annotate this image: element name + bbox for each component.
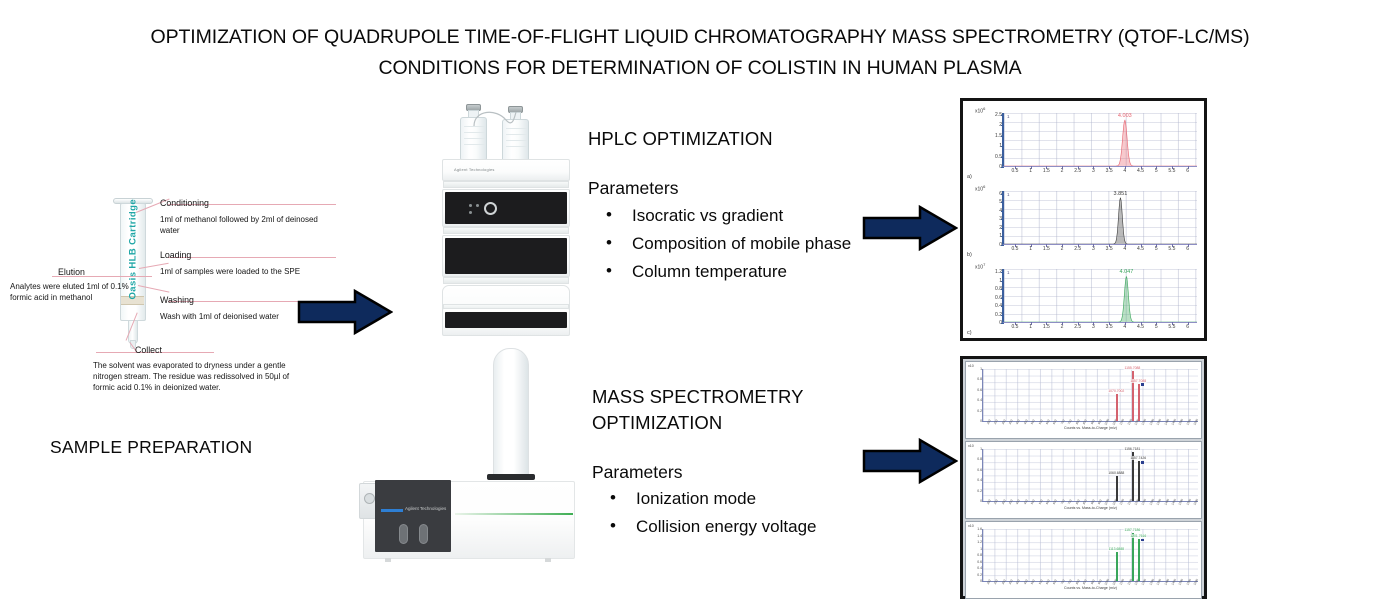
chromatogram-y-tick — [1001, 167, 1004, 168]
spectrum-x-tick-label: 700 — [1060, 579, 1066, 585]
spectrum-x-tick-label: 1600 — [1193, 498, 1200, 506]
chromatogram-panel-c: x107c)100.20.40.60.811.20.511.522.533.54… — [966, 261, 1201, 337]
spectrum-peak-label: 1156.7181 — [1124, 447, 1141, 451]
spectrum-x-tick-label: 300 — [1000, 579, 1006, 585]
step-loading: Loading 1ml of samples were loaded to th… — [160, 250, 335, 277]
chromatogram-x-tick — [1172, 244, 1173, 247]
hplc-divider-1 — [443, 181, 569, 188]
chromatogram-x-tick — [1172, 322, 1173, 325]
chromatogram-x-tick — [1188, 244, 1189, 247]
spectrum-peak-bar — [1138, 539, 1139, 581]
step-conditioning: Conditioning 1ml of methanol followed by… — [160, 198, 335, 236]
spectrum-x-tick-label: 750 — [1067, 419, 1073, 425]
spectrum-x-tick-label: 200 — [986, 499, 992, 505]
chromatogram-x-tick — [1125, 322, 1126, 325]
spectrum-plot-area: 00.20.40.60.811.21.41.620025030035040045… — [982, 529, 1198, 582]
spectrum-x-tick-label: 1400 — [1163, 418, 1170, 426]
spectrum-marker — [1141, 461, 1144, 464]
spectrum-x-tick-label: 1550 — [1185, 498, 1192, 506]
sample-preparation-caption: SAMPLE PREPARATION — [50, 437, 252, 458]
spectrum-peak-label: 1113.6888 — [1108, 547, 1125, 551]
hplc-divider-3 — [443, 277, 569, 284]
chromatogram-x-tick — [1156, 322, 1157, 325]
chromatogram-panel-b: x106b)101234560.511.522.533.544.555.563.… — [966, 183, 1201, 259]
ms-column-base — [487, 474, 535, 480]
spectrum-y-exponent: x10 — [968, 524, 974, 528]
step-loading-title: Loading — [160, 250, 335, 260]
spectrum-x-tick-label: 800 — [1074, 499, 1080, 505]
ms-section-title-line-1: MASS SPECTROMETRY — [592, 384, 892, 410]
spectrum-y-tick-label: 1.6 — [977, 527, 982, 531]
spectrum-y-tick-label: 0.2 — [977, 409, 982, 413]
spectrum-x-tick-label: 500 — [1030, 579, 1036, 585]
spectrum-x-tick-label: 1000 — [1104, 498, 1111, 506]
spectrum-x-tick-label: 1500 — [1178, 578, 1185, 586]
spectrum-x-tick-label: 1550 — [1185, 578, 1192, 586]
spectrum-y-tick-label: 0.6 — [977, 388, 982, 392]
spectrum-x-tick-label: 250 — [993, 499, 999, 505]
chromatogram-x-tick — [1015, 244, 1016, 247]
spectrum-y-tick-label: 0.6 — [977, 468, 982, 472]
chromatogram-x-tick — [1062, 244, 1063, 247]
hplc-parameters-list: Isocratic vs gradient Composition of mob… — [588, 202, 888, 286]
spectrum-peak-label: 1070.7002 — [1108, 389, 1125, 393]
spectrum-x-tick-label: 750 — [1067, 579, 1073, 585]
arrow-ms-to-spectra — [862, 437, 958, 485]
spectrum-x-tick-label: 650 — [1052, 579, 1058, 585]
spectrum-x-tick-label: 1000 — [1104, 578, 1111, 586]
spectrum-x-tick-label: 1250 — [1141, 578, 1148, 586]
chromatogram-x-tick — [1031, 322, 1032, 325]
ms-foot-right — [545, 558, 551, 562]
hplc-section-title: HPLC OPTIMIZATION — [588, 126, 888, 152]
hplc-pump-dial — [484, 202, 497, 215]
spectrum-y-tick-label: 0.6 — [977, 560, 982, 564]
spectrum-x-tick-label: 700 — [1060, 419, 1066, 425]
spectrum-y-tick-label: 0 — [980, 579, 982, 583]
spectrum-x-tick-label: 1300 — [1148, 578, 1155, 586]
chromatogram-x-tick — [1078, 322, 1079, 325]
spectrum-x-tick-label: 200 — [986, 419, 992, 425]
spectrum-y-tick-label: 1.2 — [977, 540, 982, 544]
chromatogram-x-tick — [1093, 244, 1094, 247]
spectrum-peak-bar — [1116, 476, 1117, 501]
spectrum-x-tick-label: 1350 — [1156, 498, 1163, 506]
ms-inlet-port — [364, 493, 375, 504]
ms-parameters-label: Parameters — [592, 462, 892, 483]
spectrum-x-tick-label: 600 — [1045, 499, 1051, 505]
spectrum-y-tick-label: 1 — [980, 367, 982, 371]
ms-source-handle-left[interactable] — [399, 524, 408, 544]
spectrum-y-tick-label: 1 — [980, 547, 982, 551]
chromatogram-trace — [1004, 269, 1197, 322]
hplc-bullet-3: Column temperature — [588, 258, 888, 286]
spectrum-x-tick-label: 350 — [1008, 499, 1014, 505]
mass-spectrometer-instrument-image: Agilent Technologies — [345, 343, 579, 575]
chromatogram-x-tick — [1062, 322, 1063, 325]
agilent-brand-logo: Agilent Technologies — [454, 167, 495, 172]
ms-optimization-panel: MASS SPECTROMETRY OPTIMIZATION Parameter… — [592, 384, 892, 541]
spectrum-peak-label: 1060.6888 — [1108, 471, 1125, 475]
spectrum-peak-bar — [1138, 461, 1139, 501]
spectrum-y-tick-label: 0.2 — [977, 573, 982, 577]
ms-section-title-line-2: OPTIMIZATION — [592, 410, 892, 436]
spectrum-y-tick-label: 0.4 — [977, 478, 982, 482]
step-loading-text: 1ml of samples were loaded to the SPE — [160, 266, 335, 277]
chromatogram-x-tick — [1109, 322, 1110, 325]
spectrum-x-tick-label: 950 — [1097, 499, 1103, 505]
spectrum-x-tick-label: 400 — [1015, 579, 1021, 585]
chromatogram-x-tick — [1046, 322, 1047, 325]
spectrum-x-tick-label: 800 — [1074, 579, 1080, 585]
spectrum-x-tick-label: 400 — [1015, 499, 1021, 505]
spectrum-y-tick-label: 0.8 — [977, 377, 982, 381]
spectrum-x-tick-label: 1350 — [1156, 418, 1163, 426]
hplc-divider-2 — [443, 227, 569, 234]
spectrum-x-tick-label: 1100 — [1119, 578, 1126, 586]
spectrum-peak-label: 1157.7186 — [1124, 528, 1141, 532]
chromatogram-panel-id: c) — [967, 330, 972, 336]
mass-spectrum-panel-3: x1000.20.40.60.811.21.41.620025030035040… — [965, 521, 1202, 599]
chromatogram-peak-label: 4.047 — [1119, 269, 1133, 275]
hplc-bullet-1: Isocratic vs gradient — [588, 202, 888, 230]
chromatogram-y-exponent: x107 — [975, 262, 985, 271]
chromatogram-plot-area: 100.511.522.50.511.522.533.544.555.564.0… — [1002, 113, 1197, 167]
spectrum-x-tick-label: 350 — [1008, 579, 1014, 585]
solvent-tubing — [462, 106, 532, 128]
spectrum-x-tick-label: 850 — [1082, 499, 1088, 505]
spectrum-peak-label: 1155.7088 — [1124, 366, 1141, 370]
spectrum-x-tick-label: 650 — [1052, 419, 1058, 425]
chromatogram-x-tick — [1078, 166, 1079, 169]
spectrum-y-tick-label: 1 — [980, 447, 982, 451]
chromatogram-x-tick — [1109, 244, 1110, 247]
spectrum-x-tick-label: 1350 — [1156, 578, 1163, 586]
spectrum-x-tick-label: 550 — [1037, 579, 1043, 585]
chromatogram-peak-label: 3.851 — [1114, 191, 1128, 197]
spectrum-x-tick-label: 450 — [1023, 499, 1029, 505]
spectrum-x-tick-label: 1300 — [1148, 498, 1155, 506]
chromatogram-x-tick — [1046, 166, 1047, 169]
step-conditioning-text: 1ml of methanol followed by 2ml of deino… — [160, 214, 335, 236]
step-elution: Elution Analytes were eluted 1ml of 0.1%… — [10, 267, 150, 303]
chromatogram-x-tick — [1046, 244, 1047, 247]
hplc-autosampler-panel — [445, 238, 567, 274]
chromatogram-x-tick — [1188, 322, 1189, 325]
chromatogram-x-tick — [1125, 244, 1126, 247]
spectrum-plot-area: 00.20.40.60.8120025030035040045050055060… — [982, 449, 1198, 502]
chromatogram-trace — [1004, 191, 1197, 244]
spectrum-x-tick-label: 850 — [1082, 419, 1088, 425]
spectrum-x-tick-label: 550 — [1037, 419, 1043, 425]
ms-blue-accent — [381, 509, 403, 512]
spectrum-y-tick-label: 0.8 — [977, 553, 982, 557]
chromatogram-x-tick — [1093, 322, 1094, 325]
spectrum-x-tick-label: 550 — [1037, 499, 1043, 505]
step-conditioning-title: Conditioning — [160, 198, 335, 208]
spectrum-x-tick-label: 1500 — [1178, 498, 1185, 506]
spectrum-x-tick-label: 1600 — [1193, 418, 1200, 426]
chromatogram-panel-id: a) — [967, 174, 972, 180]
spectrum-x-tick-label: 1100 — [1119, 418, 1126, 426]
spectrum-x-tick-label: 1400 — [1163, 578, 1170, 586]
spectrum-plot-area: 00.20.40.60.8120025030035040045050055060… — [982, 369, 1198, 422]
chromatogram-x-tick — [1078, 244, 1079, 247]
title-line-2: CONDITIONS FOR DETERMINATION OF COLISTIN… — [0, 53, 1400, 84]
chromatogram-panel-id: b) — [967, 252, 972, 258]
hplc-pump-panel — [445, 192, 567, 224]
spectrum-x-tick-label: 1300 — [1148, 418, 1155, 426]
mass-spectrum-panel-2: x1000.20.40.60.8120025030035040045050055… — [965, 441, 1202, 519]
mass-spectra-figure: x1000.20.40.60.8120025030035040045050055… — [960, 356, 1207, 599]
chromatogram-x-tick — [1141, 166, 1142, 169]
step-elution-text: Analytes were eluted 1ml of 0.1% formic … — [10, 281, 150, 303]
ms-bullet-2: Collision energy voltage — [592, 513, 892, 541]
spectrum-x-tick-label: 600 — [1045, 419, 1051, 425]
spectrum-y-tick-label: 1.4 — [977, 534, 982, 538]
hplc-instrument-image: Agilent Technologies — [432, 104, 580, 336]
spectrum-x-tick-label: 900 — [1089, 499, 1095, 505]
spectrum-peak-bar — [1132, 533, 1133, 581]
arrow-hplc-to-chromatograms — [862, 204, 958, 252]
hplc-detector-panel — [445, 312, 567, 328]
spectrum-y-tick-label: 0.4 — [977, 566, 982, 570]
title-line-1: OPTIMIZATION OF QUADRUPOLE TIME-OF-FLIGH… — [0, 22, 1400, 53]
chromatogram-x-tick — [1062, 166, 1063, 169]
ms-turbo-column — [493, 348, 529, 478]
chromatogram-x-tick — [1015, 166, 1016, 169]
spectrum-x-tick-label: 450 — [1023, 579, 1029, 585]
spectrum-x-tick-label: 1450 — [1170, 418, 1177, 426]
spectrum-x-axis-label: Counts vs. Mass-to-Charge (m/z) — [1064, 426, 1117, 430]
spectrum-peak-bar — [1116, 394, 1117, 421]
spectrum-x-tick-label: 650 — [1052, 499, 1058, 505]
chromatogram-y-exponent: x106 — [975, 184, 985, 193]
chromatogram-x-tick — [1015, 322, 1016, 325]
spectrum-x-tick-label: 1400 — [1163, 498, 1170, 506]
spectrum-x-tick-label: 350 — [1008, 419, 1014, 425]
chromatogram-plot-area: 100.20.40.60.811.20.511.522.533.544.555.… — [1002, 269, 1197, 323]
chromatogram-trace — [1004, 113, 1197, 166]
ms-bullet-1: Ionization mode — [592, 485, 892, 513]
spectrum-y-exponent: x10 — [968, 364, 974, 368]
chromatogram-y-tick — [1001, 245, 1004, 246]
spectrum-x-tick-label: 300 — [1000, 419, 1006, 425]
spectrum-x-tick-label: 900 — [1089, 419, 1095, 425]
spectrum-y-exponent: x10 — [968, 444, 974, 448]
ms-parameters-list: Ionization mode Collision energy voltage — [592, 485, 892, 541]
spectrum-x-tick-label: 450 — [1023, 419, 1029, 425]
chromatogram-plot-area: 101234560.511.522.533.544.555.563.851 — [1002, 191, 1197, 245]
step-elution-title: Elution — [10, 267, 150, 277]
spectrum-x-tick-label: 950 — [1097, 579, 1103, 585]
chromatogram-x-tick — [1141, 244, 1142, 247]
chromatogram-x-tick — [1156, 166, 1157, 169]
spectrum-y-tick-label: 0.2 — [977, 489, 982, 493]
spectrum-x-tick-label: 800 — [1074, 419, 1080, 425]
spectrum-y-tick-label: 0 — [980, 419, 982, 423]
spectrum-x-tick-label: 300 — [1000, 499, 1006, 505]
spectrum-x-tick-label: 250 — [993, 579, 999, 585]
spectrum-x-tick-label: 850 — [1082, 579, 1088, 585]
spectrum-x-tick-label: 1450 — [1170, 498, 1177, 506]
spectrum-y-tick-label: 0 — [980, 499, 982, 503]
spectrum-x-tick-label: 1000 — [1104, 418, 1111, 426]
chromatogram-panel-a: x106a)100.511.522.50.511.522.533.544.555… — [966, 105, 1201, 181]
step-collect-text: The solvent was evaporated to dryness un… — [93, 360, 308, 393]
step-collect-title: Collect — [93, 345, 308, 355]
spectrum-y-tick-label: 0.4 — [977, 398, 982, 402]
spectrum-x-tick-label: 400 — [1015, 419, 1021, 425]
page-title: OPTIMIZATION OF QUADRUPOLE TIME-OF-FLIGH… — [0, 22, 1400, 84]
spectrum-x-tick-label: 1250 — [1141, 418, 1148, 426]
step-collect: Collect The solvent was evaporated to dr… — [93, 345, 308, 393]
spectrum-x-tick-label: 1250 — [1141, 498, 1148, 506]
chromatogram-x-tick — [1156, 244, 1157, 247]
mass-spectrum-panel-1: x1000.20.40.60.8120025030035040045050055… — [965, 361, 1202, 439]
spectrum-x-tick-label: 250 — [993, 419, 999, 425]
ms-foot-left — [385, 558, 391, 562]
spectrum-x-tick-label: 750 — [1067, 499, 1073, 505]
chromatogram-x-tick — [1125, 166, 1126, 169]
hplc-optimization-panel: HPLC OPTIMIZATION Parameters Isocratic v… — [588, 126, 888, 286]
ms-green-accent-line — [455, 513, 573, 515]
chromatogram-x-tick — [1031, 244, 1032, 247]
spectrum-x-tick-label: 600 — [1045, 579, 1051, 585]
chromatogram-x-tick — [1109, 166, 1110, 169]
ms-source-handle-right[interactable] — [419, 524, 428, 544]
chromatogram-x-tick — [1141, 322, 1142, 325]
chromatogram-x-tick — [1188, 166, 1189, 169]
spectrum-x-tick-label: 700 — [1060, 499, 1066, 505]
ms-brand-logo: Agilent Technologies — [405, 506, 446, 511]
spectrum-x-tick-label: 1500 — [1178, 418, 1185, 426]
chromatogram-y-exponent: x106 — [975, 106, 985, 115]
chromatograms-figure: x106a)100.511.522.50.511.522.533.544.555… — [960, 98, 1207, 341]
spectrum-peak-label: 1201.7616 — [1130, 534, 1147, 538]
spectrum-x-axis-label: Counts vs. Mass-to-Charge (m/z) — [1064, 506, 1117, 510]
sample-preparation-diagram: Oasis HLB Cartridge Conditioning 1ml of … — [8, 190, 328, 415]
spectrum-x-axis-label: Counts vs. Mass-to-Charge (m/z) — [1064, 586, 1117, 590]
spectrum-x-tick-label: 950 — [1097, 419, 1103, 425]
spectrum-x-tick-label: 1450 — [1170, 578, 1177, 586]
chromatogram-x-tick — [1093, 166, 1094, 169]
spectrum-x-tick-label: 1600 — [1193, 578, 1200, 586]
hplc-parameters-label: Parameters — [588, 178, 888, 199]
hplc-bullet-2: Composition of mobile phase — [588, 230, 888, 258]
spectrum-marker — [1141, 539, 1144, 542]
spectrum-peak-label: 1157.7088 — [1130, 379, 1147, 383]
ms-ion-source-panel — [375, 480, 451, 552]
spectrum-y-tick-label: 0.8 — [977, 457, 982, 461]
chromatogram-peak-label: 4.003 — [1118, 113, 1132, 119]
spectrum-x-tick-label: 900 — [1089, 579, 1095, 585]
spectrum-x-tick-label: 500 — [1030, 419, 1036, 425]
chromatogram-y-tick — [1001, 323, 1004, 324]
spectrum-x-tick-label: 1100 — [1119, 498, 1126, 506]
spectrum-peak-label: 1157.7426 — [1130, 456, 1147, 460]
spectrum-marker — [1141, 383, 1144, 386]
spectrum-x-tick-label: 1550 — [1185, 418, 1192, 426]
arrow-sampleprep-to-hplc — [297, 288, 393, 336]
spectrum-peak-bar — [1116, 552, 1117, 581]
spectrum-peak-bar — [1138, 384, 1139, 421]
spectrum-x-tick-label: 500 — [1030, 499, 1036, 505]
spectrum-x-tick-label: 200 — [986, 579, 992, 585]
chromatogram-x-tick — [1172, 166, 1173, 169]
chromatogram-x-tick — [1031, 166, 1032, 169]
